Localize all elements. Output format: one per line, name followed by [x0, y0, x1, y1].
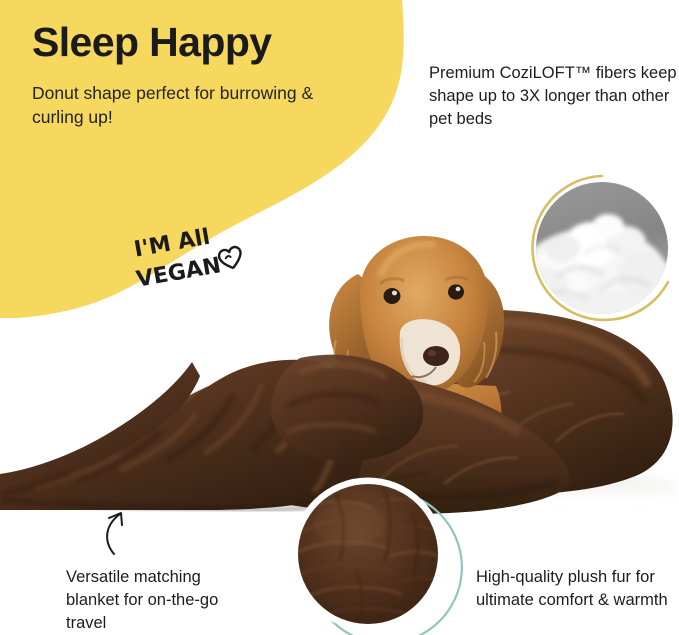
- caption-blanket: Versatile matching blanket for on-the-go…: [66, 566, 256, 635]
- headline-subtitle: Donut shape perfect for burrowing & curl…: [32, 81, 352, 129]
- fiber-fill-inset: [518, 172, 678, 328]
- caption-fur: High-quality plush fur for ultimate comf…: [476, 566, 679, 612]
- page-title: Sleep Happy: [32, 19, 352, 65]
- curved-arrow-up-right-icon: [100, 508, 146, 556]
- infographic-canvas: Sleep Happy Donut shape perfect for burr…: [0, 0, 679, 635]
- heart-icon: [218, 246, 244, 271]
- fiber-claim-text: Premium CoziLOFT™ fibers keep shape up t…: [429, 62, 679, 131]
- fur-texture-inset: [292, 478, 458, 635]
- headline-block: Sleep Happy Donut shape perfect for burr…: [32, 19, 352, 129]
